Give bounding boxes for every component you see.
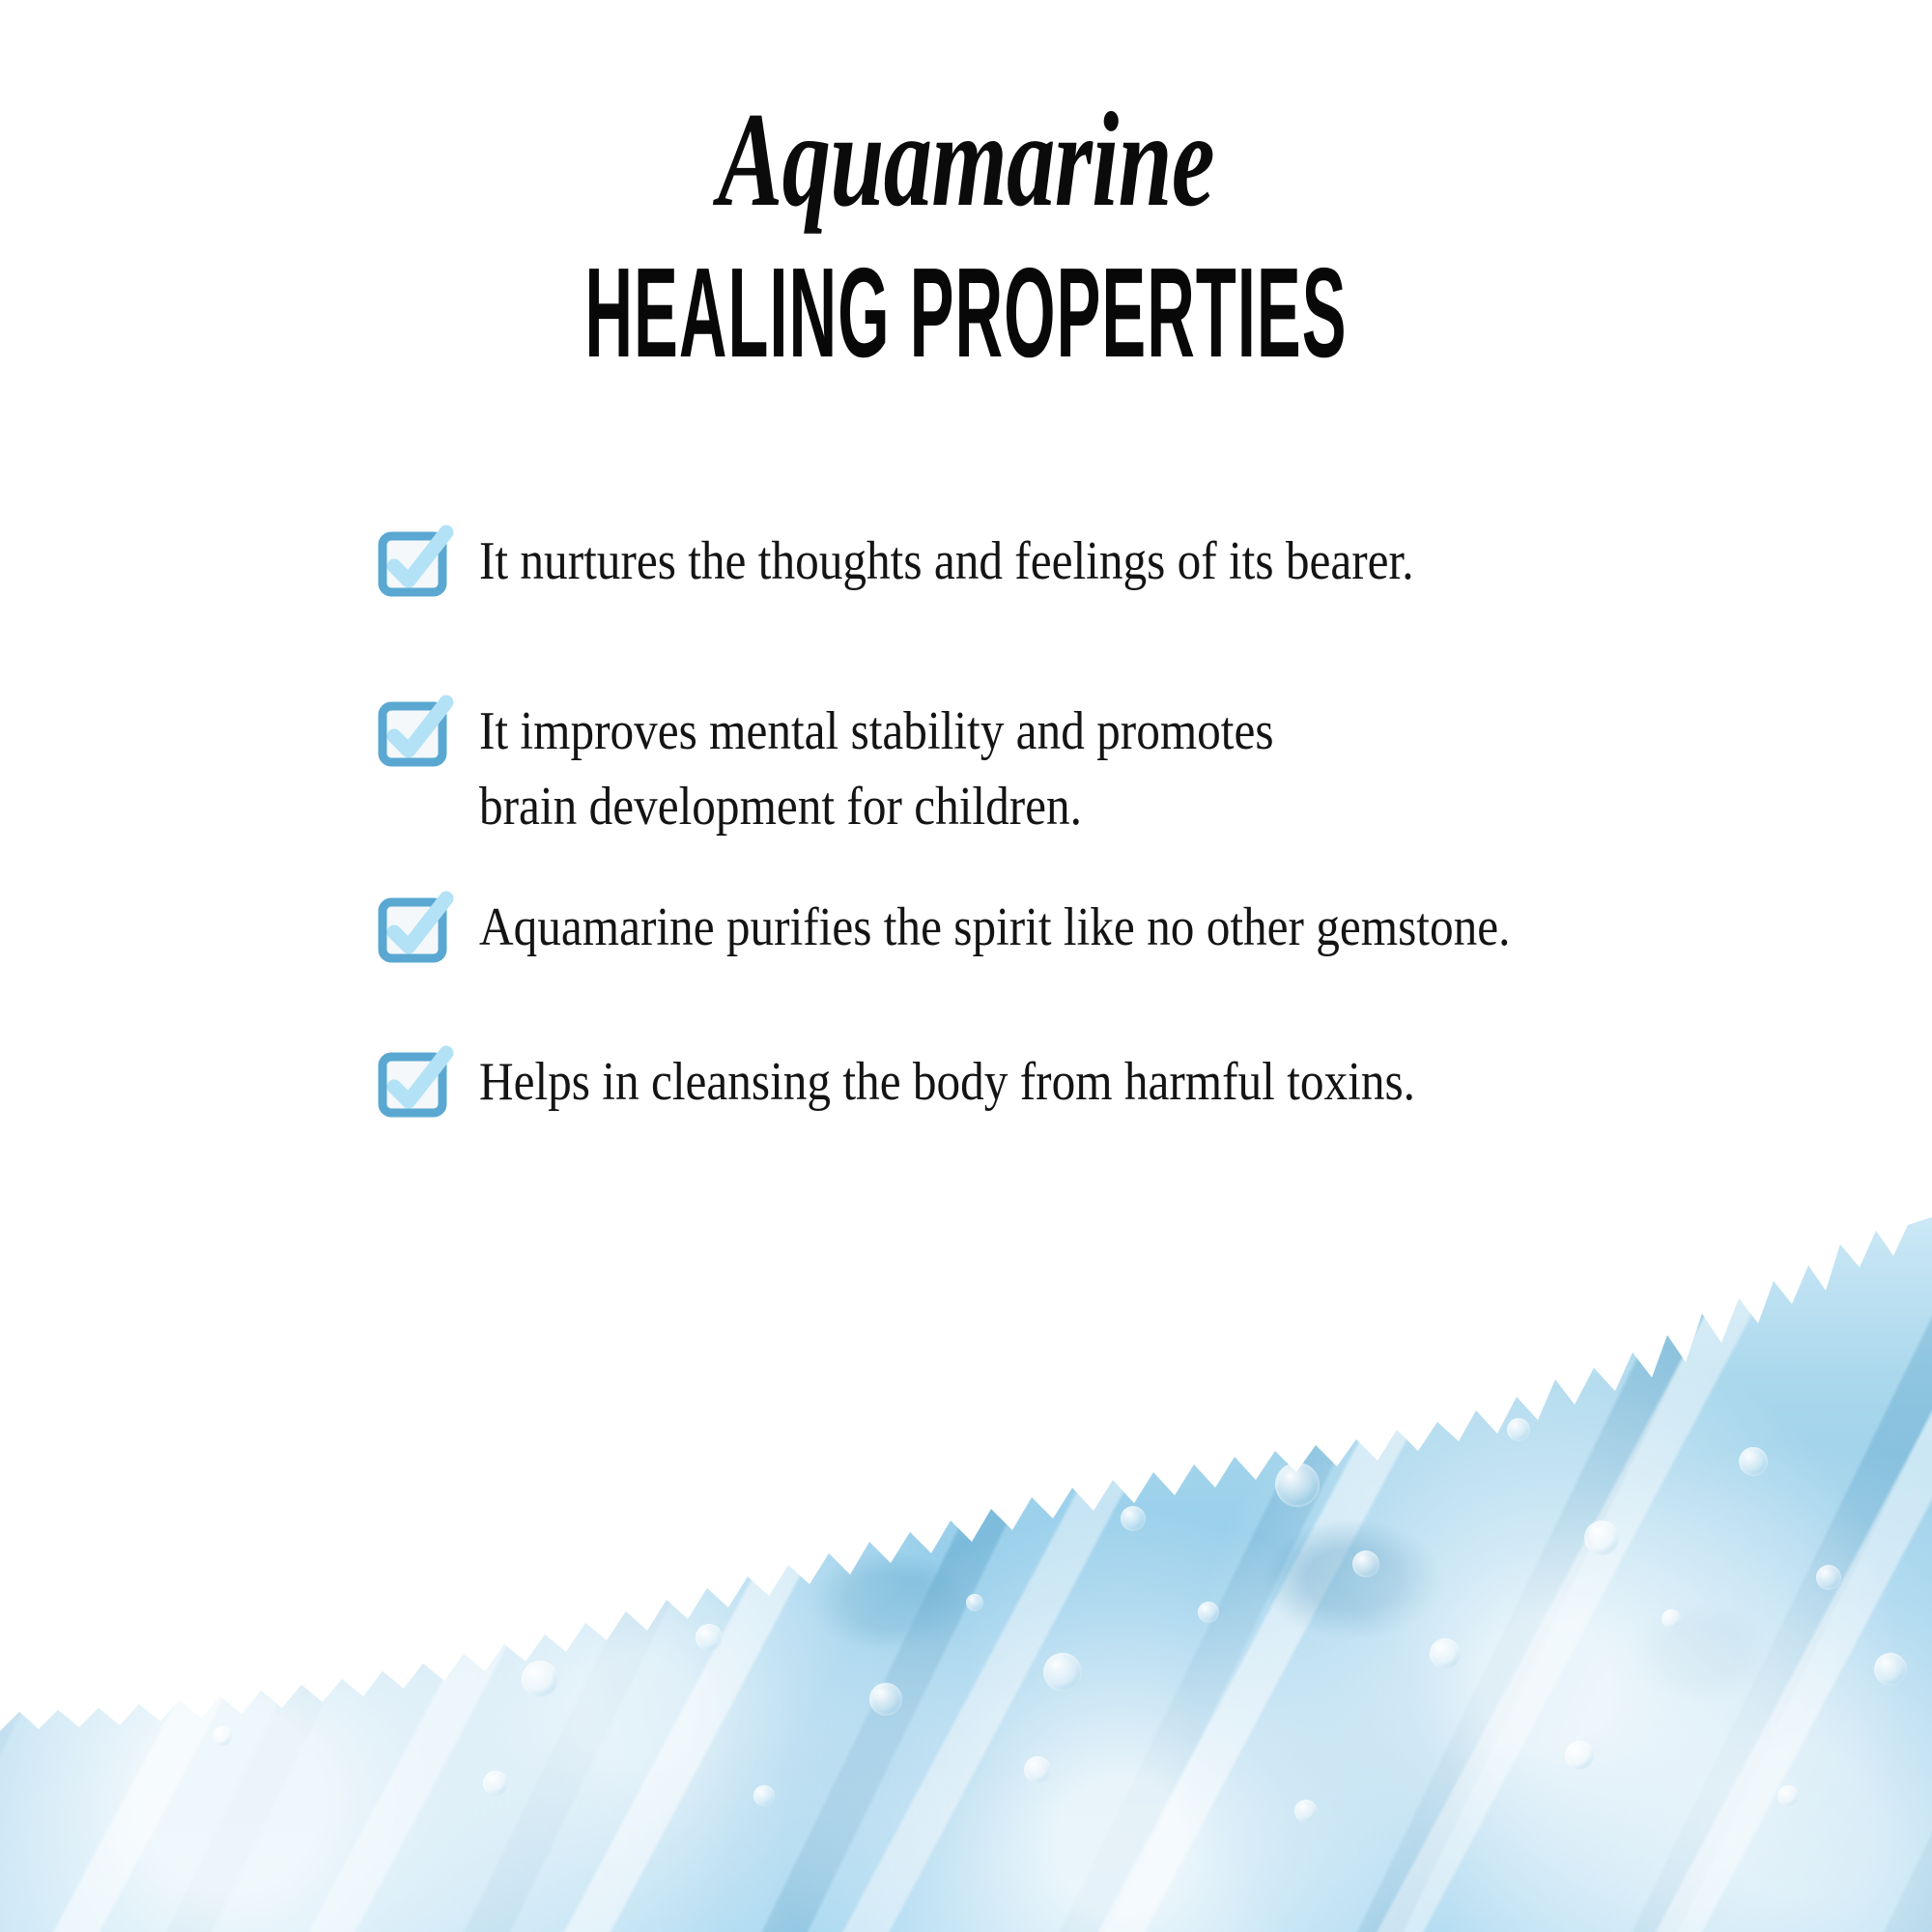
page-header: Aquamarine HEALING PROPERTIES <box>0 0 1932 377</box>
ice-cubes-photo <box>0 1198 1932 1932</box>
list-item-label: Helps in cleansing the body from harmful… <box>479 1042 1415 1120</box>
checked-checkbox-icon <box>379 1048 452 1122</box>
poster: Aquamarine HEALING PROPERTIES It nurture… <box>0 0 1932 1932</box>
healing-properties-list: It nurtures the thoughts and feelings of… <box>379 522 1808 1276</box>
list-item-label: Aquamarine purifies the spirit like no o… <box>479 888 1510 965</box>
list-item: It improves mental stability and promote… <box>379 692 1808 845</box>
list-item: Aquamarine purifies the spirit like no o… <box>379 888 1808 967</box>
checked-checkbox-icon <box>379 894 452 967</box>
checked-checkbox-icon <box>379 527 452 601</box>
page-title: Aquamarine <box>270 93 1662 228</box>
checked-checkbox-icon <box>379 697 452 771</box>
list-item: Helps in cleansing the body from harmful… <box>379 1042 1808 1122</box>
list-item: It nurtures the thoughts and feelings of… <box>379 522 1808 601</box>
list-item-label: It nurtures the thoughts and feelings of… <box>479 522 1414 599</box>
list-item-label: It improves mental stability and promote… <box>479 692 1274 845</box>
page-subtitle: HEALING PROPERTIES <box>464 249 1468 377</box>
ice-top-edge-mask <box>0 1198 1932 1932</box>
